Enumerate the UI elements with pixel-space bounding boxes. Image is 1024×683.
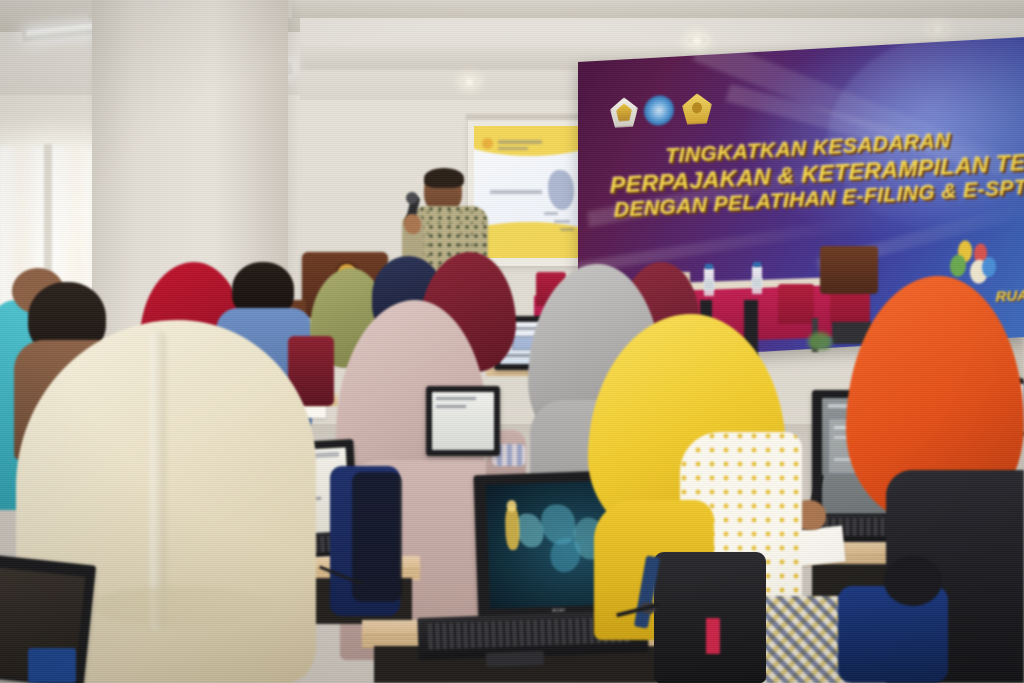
blue-circle-institution-logo — [644, 95, 674, 127]
screen-top-bar — [466, 114, 588, 120]
speaker-hair — [424, 168, 464, 188]
bottle-label-2 — [752, 278, 762, 288]
gold-pentagon-logo — [682, 93, 712, 126]
participant-cream-hijab-fold — [150, 330, 166, 630]
university-pentagon-logo — [610, 97, 638, 129]
bottle-label-1 — [704, 280, 714, 290]
recessed-downlight-2 — [462, 78, 477, 86]
blue-chair-fabric — [28, 648, 76, 683]
participant-cream-hijab-hem — [92, 586, 272, 626]
laptop-pink-hijab-screen — [432, 392, 494, 450]
projector-screen — [474, 126, 580, 258]
wooden-chair-right — [820, 246, 878, 294]
laptop-front-center-trackpad[interactable] — [486, 651, 544, 667]
head-table-chair-2 — [778, 284, 814, 324]
microphone-head — [406, 192, 418, 204]
recessed-downlight-1 — [688, 36, 706, 45]
decorative-plant-1 — [808, 332, 832, 350]
bottle-cap-1 — [705, 264, 713, 269]
backpack-red-tag — [706, 618, 720, 654]
photo-scene: TINGKATKAN KESADARAN PERPAJAKAN & KETERA… — [0, 0, 1024, 683]
ceiling-beam-right — [270, 0, 1024, 18]
recessed-downlight-3 — [930, 26, 946, 34]
speaker-hand — [404, 214, 421, 234]
bottle-cap-2 — [753, 262, 761, 267]
chair-right-wheel-base — [884, 556, 942, 606]
chair-blue-front-right — [838, 586, 948, 683]
